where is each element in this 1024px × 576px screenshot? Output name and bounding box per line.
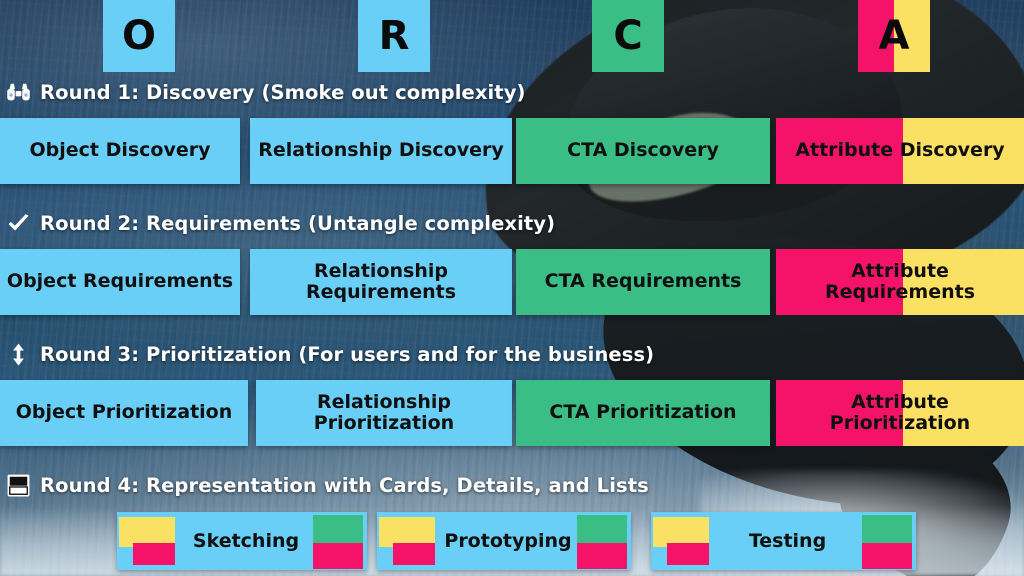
swatch-green — [313, 515, 363, 543]
check-icon — [6, 211, 31, 236]
cell-label: Attribute Discovery — [795, 140, 1004, 161]
round-4-heading-text: Round 4: Representation with Cards, Deta… — [40, 474, 649, 497]
chip-round-4-2[interactable]: Prototyping — [377, 512, 631, 570]
cell-round-1-1[interactable]: Object Discovery — [0, 118, 240, 184]
swatch-green — [577, 515, 627, 543]
swatch-pink — [313, 543, 363, 569]
acronym-row: ORCA — [0, 0, 1024, 72]
acronym-letter-o: O — [103, 0, 175, 72]
acronym-letter-a: A — [858, 0, 930, 72]
cell-round-3-3[interactable]: CTA Prioritization — [516, 380, 770, 446]
chip-round-4-1[interactable]: Sketching — [117, 512, 367, 570]
chip-swatch-stack-left — [377, 515, 439, 567]
chip-label: Testing — [713, 530, 862, 552]
binoculars-icon — [6, 80, 31, 105]
cell-round-3-1[interactable]: Object Prioritization — [0, 380, 248, 446]
cell-round-2-2[interactable]: RelationshipRequirements — [250, 249, 512, 315]
chip-swatch-stack-right — [862, 515, 916, 567]
cell-label: RelationshipPrioritization — [314, 392, 454, 435]
cell-round-1-3[interactable]: CTA Discovery — [516, 118, 770, 184]
round-4-heading: Round 4: Representation with Cards, Deta… — [6, 473, 649, 498]
chip-swatch-stack-left — [651, 515, 713, 567]
cell-label: CTA Requirements — [545, 271, 742, 292]
acronym-letter-glyph: R — [379, 16, 410, 56]
round-2-heading-text: Round 2: Requirements (Untangle complexi… — [40, 212, 555, 235]
cell-round-2-4[interactable]: AttributeRequirements — [776, 249, 1024, 315]
swatch-pink — [577, 543, 627, 569]
round-1-heading: Round 1: Discovery (Smoke out complexity… — [6, 80, 526, 105]
round-1-heading-text: Round 1: Discovery (Smoke out complexity… — [40, 81, 526, 104]
swatch-pink — [862, 543, 912, 569]
orca-framework-diagram: ORCA Round 1: Discovery (Smoke out compl… — [0, 0, 1024, 576]
round-3-heading-text: Round 3: Prioritization (For users and f… — [40, 343, 654, 366]
chip-label: Prototyping — [439, 530, 577, 552]
cell-label: AttributeRequirements — [825, 261, 975, 304]
cell-label: Object Prioritization — [16, 402, 233, 423]
cell-round-1-2[interactable]: Relationship Discovery — [250, 118, 512, 184]
swatch-pink — [667, 543, 709, 565]
acronym-letter-glyph: A — [879, 16, 910, 56]
acronym-letter-glyph: O — [122, 16, 156, 56]
cell-label: AttributePrioritization — [830, 392, 970, 435]
cell-label: CTA Prioritization — [549, 402, 736, 423]
vertical-arrows-icon — [6, 342, 31, 367]
chip-label: Sketching — [179, 530, 313, 552]
cell-label: Object Requirements — [7, 271, 233, 292]
chip-round-4-3[interactable]: Testing — [651, 512, 916, 570]
acronym-letter-r: R — [358, 0, 430, 72]
round-2-row: Object RequirementsRelationshipRequireme… — [0, 249, 1024, 315]
acronym-letter-c: C — [592, 0, 664, 72]
round-1-row: Object DiscoveryRelationship DiscoveryCT… — [0, 118, 1024, 184]
acronym-letter-glyph: C — [613, 16, 642, 56]
round-3-row: Object PrioritizationRelationshipPriorit… — [0, 380, 1024, 446]
cell-round-2-3[interactable]: CTA Requirements — [516, 249, 770, 315]
round-3-heading: Round 3: Prioritization (For users and f… — [6, 342, 654, 367]
chip-swatch-stack-right — [313, 515, 367, 567]
round-2-heading: Round 2: Requirements (Untangle complexi… — [6, 211, 555, 236]
cell-label: Relationship Discovery — [258, 140, 504, 161]
cell-round-1-4[interactable]: Attribute Discovery — [776, 118, 1024, 184]
cell-round-3-2[interactable]: RelationshipPrioritization — [256, 380, 512, 446]
swatch-green — [862, 515, 912, 543]
swatch-pink — [133, 543, 175, 565]
cell-label: RelationshipRequirements — [306, 261, 456, 304]
swatch-pink — [393, 543, 435, 565]
cell-round-2-1[interactable]: Object Requirements — [0, 249, 240, 315]
chip-swatch-stack-left — [117, 515, 179, 567]
card-layout-icon — [6, 473, 31, 498]
cell-round-3-4[interactable]: AttributePrioritization — [776, 380, 1024, 446]
round-4-row: SketchingPrototypingTesting — [0, 512, 1024, 570]
chip-swatch-stack-right — [577, 515, 631, 567]
cell-label: Object Discovery — [29, 140, 210, 161]
cell-label: CTA Discovery — [567, 140, 719, 161]
